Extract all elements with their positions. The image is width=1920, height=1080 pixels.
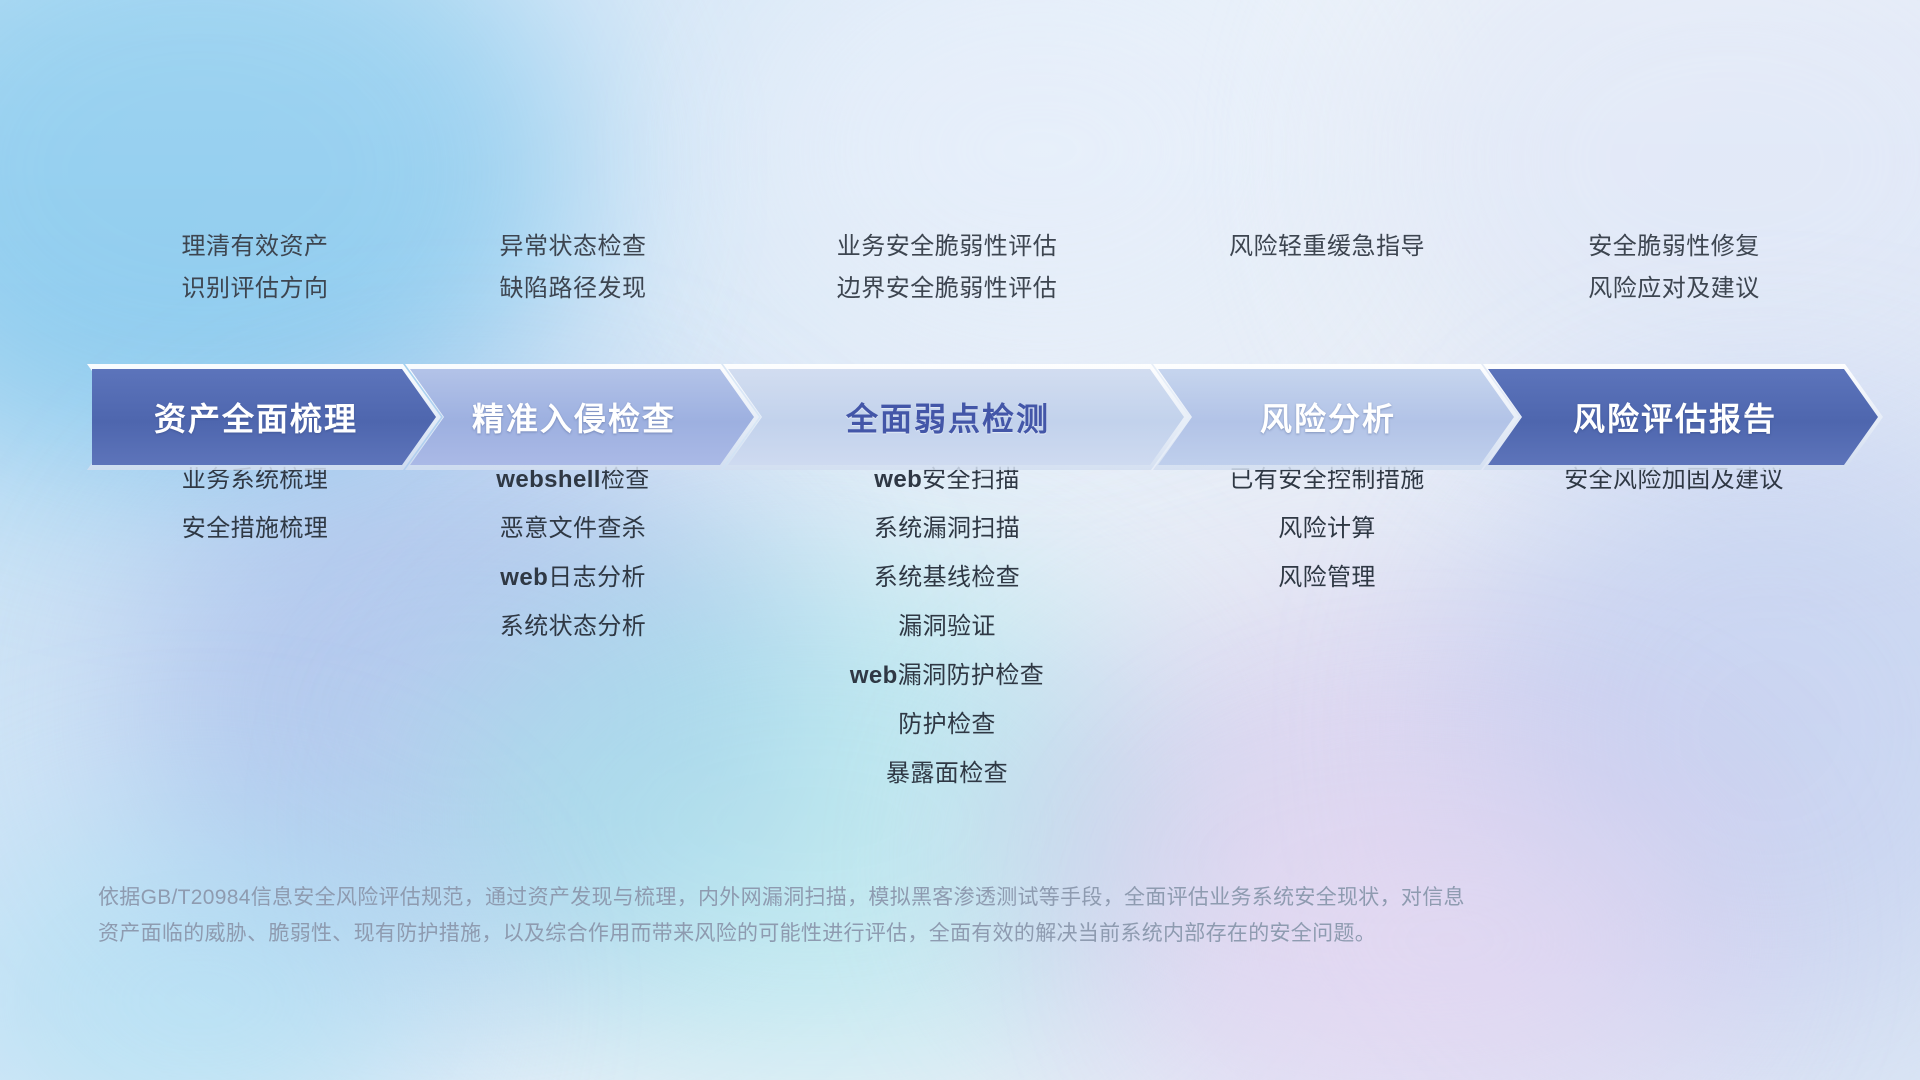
top-note: 理清有效资产	[182, 232, 329, 262]
footer-line-1: 依据GB/T20984信息安全风险评估规范，通过资产发现与梳理，内外网漏洞扫描，…	[98, 880, 1658, 916]
process-step-label: 风险评估报告	[1573, 394, 1793, 440]
bottom-note-prefix: web	[500, 564, 548, 591]
bottom-note: 系统状态分析	[500, 602, 646, 651]
bottom-note: 漏洞验证	[898, 602, 996, 651]
bottom-note: web漏洞防护检查	[850, 651, 1044, 700]
process-step-label: 风险分析	[1260, 394, 1412, 440]
process-step-2[interactable]: 精准入侵检查	[410, 369, 754, 465]
process-step-5[interactable]: 风险评估报告	[1488, 369, 1878, 465]
bottom-note-text: 安全扫描	[922, 466, 1020, 493]
process-chevron-band: 资产全面梳理精准入侵检查全面弱点检测风险分析风险评估报告	[92, 369, 1852, 465]
top-notes-row: 理清有效资产识别评估方向异常状态检查缺陷路径发现业务安全脆弱性评估边界安全脆弱性…	[96, 232, 1856, 304]
bottom-note: 暴露面检查	[886, 749, 1008, 798]
top-notes-column-1: 理清有效资产识别评估方向	[96, 232, 414, 304]
process-step-3[interactable]: 全面弱点检测	[728, 369, 1184, 465]
process-step-label: 精准入侵检查	[472, 394, 692, 440]
bottom-note-text: 日志分析	[548, 564, 646, 591]
process-diagram: 理清有效资产识别评估方向异常状态检查缺陷路径发现业务安全脆弱性评估边界安全脆弱性…	[0, 0, 1920, 1080]
bottom-note: 安全措施梳理	[182, 504, 328, 553]
top-notes-column-2: 异常状态检查缺陷路径发现	[414, 232, 732, 304]
bottom-note-text: 检查	[601, 466, 650, 493]
top-notes-column-4: 风险轻重缓急指导	[1162, 232, 1492, 304]
process-step-label: 资产全面梳理	[154, 394, 374, 440]
bottom-note: 风险管理	[1278, 553, 1376, 602]
bottom-note-prefix: web	[874, 466, 922, 493]
top-note: 风险应对及建议	[1588, 274, 1760, 304]
top-note: 缺陷路径发现	[500, 274, 647, 304]
top-note: 边界安全脆弱性评估	[837, 274, 1058, 304]
bottom-note-text: 漏洞防护检查	[898, 662, 1044, 689]
bottom-note-prefix: webshell	[496, 466, 601, 493]
bottom-notes-column-1: 业务系统梳理安全措施梳理	[96, 455, 414, 798]
bottom-notes-row: 业务系统梳理安全措施梳理webshell检查恶意文件查杀web日志分析系统状态分…	[96, 455, 1856, 798]
bottom-note-prefix: web	[850, 662, 898, 689]
bottom-note: web日志分析	[500, 553, 646, 602]
process-step-4[interactable]: 风险分析	[1158, 369, 1514, 465]
footer-line-2: 资产面临的威胁、脆弱性、现有防护措施，以及综合作用而带来风险的可能性进行评估，全…	[98, 916, 1658, 952]
bottom-notes-column-4: 已有安全控制措施风险计算风险管理	[1162, 455, 1492, 798]
top-note: 安全脆弱性修复	[1588, 232, 1760, 262]
top-notes-column-5: 安全脆弱性修复风险应对及建议	[1492, 232, 1856, 304]
bottom-notes-column-2: webshell检查恶意文件查杀web日志分析系统状态分析	[414, 455, 732, 798]
bottom-note: 防护检查	[898, 700, 996, 749]
bottom-note: 系统漏洞扫描	[874, 504, 1020, 553]
footer-description: 依据GB/T20984信息安全风险评估规范，通过资产发现与梳理，内外网漏洞扫描，…	[98, 880, 1658, 952]
top-note: 识别评估方向	[182, 274, 329, 304]
top-note: 风险轻重缓急指导	[1229, 232, 1425, 262]
bottom-notes-column-5: 安全风险加固及建议	[1492, 455, 1856, 798]
top-notes-column-3: 业务安全脆弱性评估边界安全脆弱性评估	[732, 232, 1162, 304]
bottom-note: 恶意文件查杀	[500, 504, 646, 553]
bottom-note: 风险计算	[1278, 504, 1376, 553]
bottom-note: 系统基线检查	[874, 553, 1020, 602]
process-step-1[interactable]: 资产全面梳理	[92, 369, 436, 465]
top-note: 业务安全脆弱性评估	[837, 232, 1058, 262]
process-step-label: 全面弱点检测	[846, 394, 1066, 440]
bottom-notes-column-3: web安全扫描系统漏洞扫描系统基线检查漏洞验证web漏洞防护检查防护检查暴露面检…	[732, 455, 1162, 798]
top-note: 异常状态检查	[500, 232, 647, 262]
